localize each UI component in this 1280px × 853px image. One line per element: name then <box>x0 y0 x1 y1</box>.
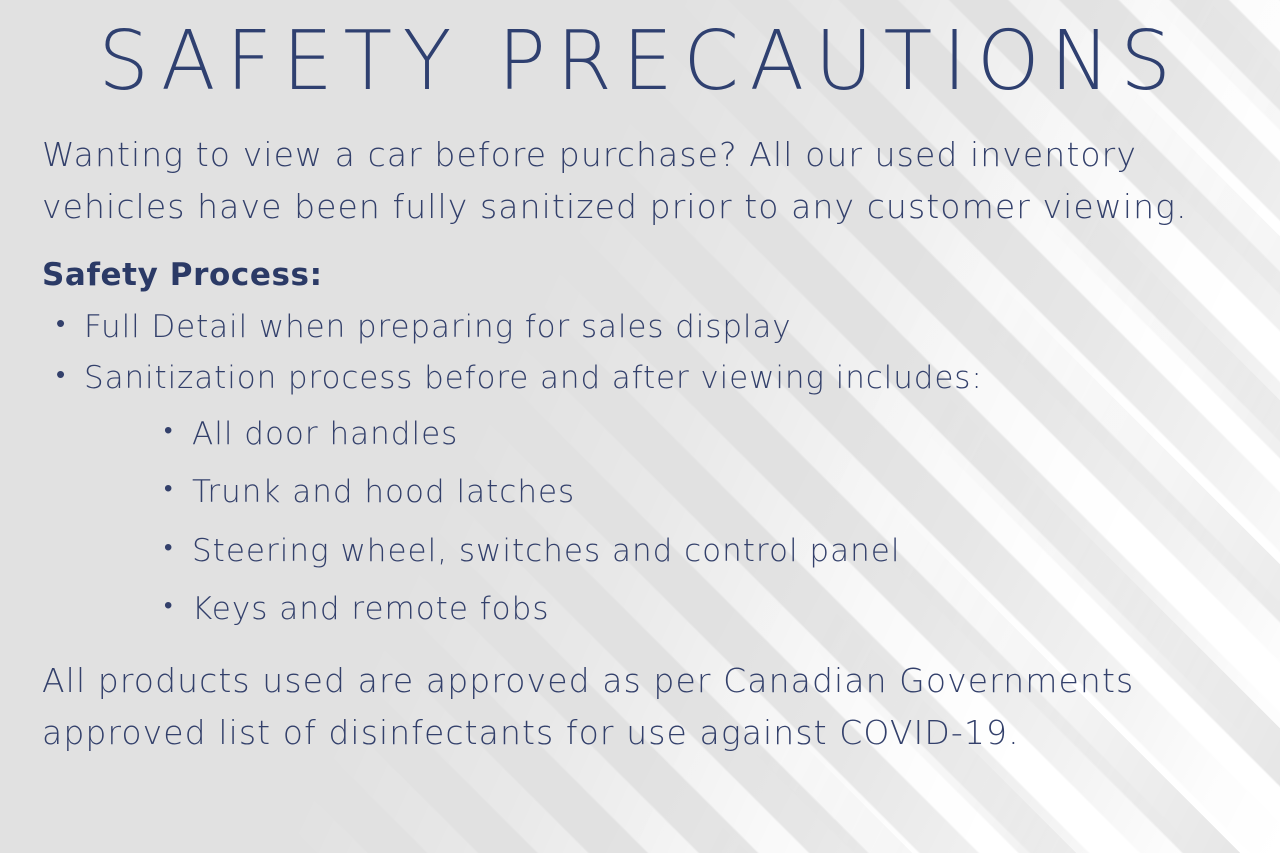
closing-paragraph: All products used are approved as per Ca… <box>42 655 1222 759</box>
page-title: SAFETY PRECAUTIONS <box>60 0 1220 107</box>
poster-content: SAFETY PRECAUTIONS Wanting to view a car… <box>0 0 1280 760</box>
list-item: Trunk and hood latches <box>162 472 1238 512</box>
list-item: Keys and remote fobs <box>162 589 1238 629</box>
list-item: All door handles <box>162 414 1238 454</box>
section-heading-safety-process: Safety Process: <box>42 255 1238 295</box>
list-item: Full Detail when preparing for sales dis… <box>54 305 1238 349</box>
safety-precautions-poster: SAFETY PRECAUTIONS Wanting to view a car… <box>0 0 1280 853</box>
list-item: Sanitization process before and after vi… <box>54 356 1238 400</box>
intro-paragraph: Wanting to view a car before purchase? A… <box>42 129 1217 233</box>
list-item: Steering wheel, switches and control pan… <box>162 531 1238 571</box>
sanitization-sublist: All door handles Trunk and hood latches … <box>42 414 1238 629</box>
safety-process-list: Full Detail when preparing for sales dis… <box>42 305 1238 400</box>
